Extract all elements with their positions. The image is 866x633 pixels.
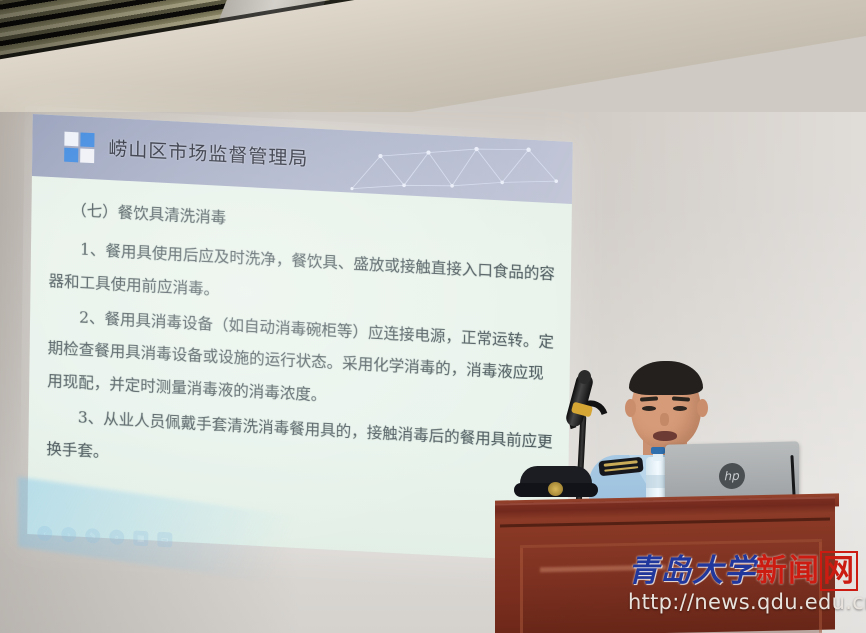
eye-left [642,406,656,411]
ear-left [625,399,636,417]
hp-logo-icon: hp [719,462,745,489]
eye-right [673,406,687,411]
watermark-chinese-title: 青岛大学新闻网 [628,556,860,587]
officer-peaked-cap [512,466,600,500]
watermark-web-word: 网 [820,551,858,591]
watermark-news-word: 新闻 [756,553,820,589]
mouth [653,431,677,441]
logo-square-top-left [64,132,78,147]
hair [629,361,703,395]
logo-square-bottom-left [64,148,78,163]
logo-square-bottom-right [80,148,94,163]
watermark-url: http://news.qdu.edu.cn [628,590,860,614]
news-site-watermark: 青岛大学新闻网 http://news.qdu.edu.cn [628,556,860,614]
watermark-university-name: 青岛大学 [628,553,756,589]
slide-org-title: 崂山区市场监督管理局 [108,134,308,171]
logo-square-top-right [80,132,94,147]
four-square-logo [64,132,94,164]
cap-emblem-icon [548,482,563,496]
photo-scene: 崂山区市场监督管理局 （七）餐饮具清洗消毒 1、餐用具使用后应及时洗净，餐饮具、… [0,0,866,633]
ear-right [697,399,708,417]
nose [660,413,669,426]
